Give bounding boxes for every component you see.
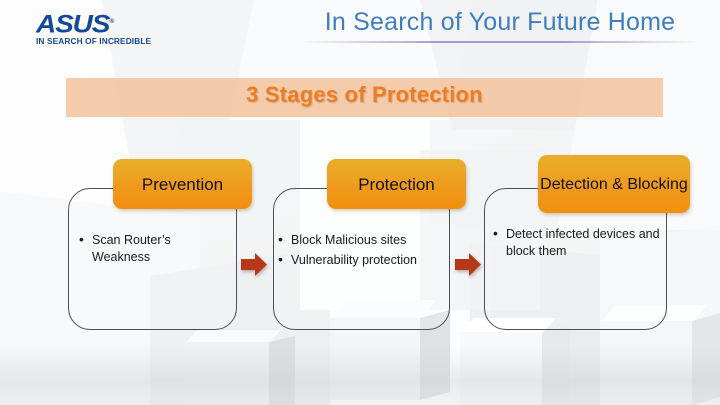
list-item: Scan Router’s Weakness: [78, 232, 228, 266]
stage-header-prevention[interactable]: Prevention: [113, 159, 252, 209]
asus-tagline: IN SEARCH OF INCREDIBLE: [36, 37, 152, 46]
stage-header-protection[interactable]: Protection: [327, 159, 466, 209]
asus-logo: ASUS® IN SEARCH OF INCREDIBLE: [36, 10, 148, 46]
registered-trademark-icon: ®: [109, 19, 114, 25]
arrow-right-icon: [455, 252, 481, 277]
list-item: Vulnerability protection: [277, 252, 445, 269]
asus-wordmark-text: ASUS: [36, 10, 109, 38]
stage-bullets-prevention: Scan Router’s Weakness: [78, 232, 228, 269]
list-item: Detect infected devices and block them: [492, 226, 662, 260]
arrow-right-icon: [241, 252, 267, 277]
asus-wordmark: ASUS®: [36, 10, 161, 36]
stage-bullets-detection-blocking: Detect infected devices and block them: [492, 226, 662, 263]
slide-canvas: ASUS® IN SEARCH OF INCREDIBLE In Search …: [0, 0, 720, 405]
stage-bullets-protection: Block Malicious sites Vulnerability prot…: [277, 232, 445, 272]
page-title: In Search of Your Future Home: [300, 8, 700, 37]
title-underline-divider: [300, 41, 700, 43]
section-banner-label: 3 Stages of Protection: [66, 82, 663, 108]
stage-header-detection-blocking[interactable]: Detection & Blocking: [538, 155, 690, 213]
list-item: Block Malicious sites: [277, 232, 445, 249]
